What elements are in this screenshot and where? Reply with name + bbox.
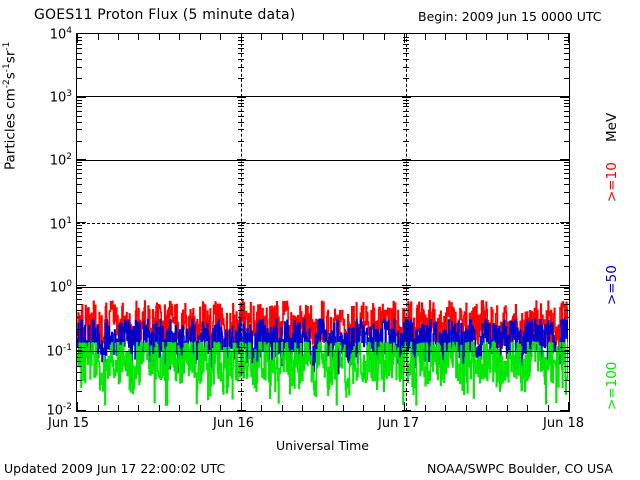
x-tick-label-jun18: Jun 18 [543,416,584,431]
y-tick-label-1e3: 103 [30,89,72,105]
legend-item-ge10: >=10 [604,162,620,202]
gridline-1e1-dashed [77,223,569,224]
legend-item-ge50: >=50 [604,265,620,305]
y-tick-label-1e-1: 10-1 [26,343,72,359]
legend-item-ge100: >=100 [604,362,620,410]
x-axis-title: Universal Time [276,438,369,453]
page-title: GOES11 Proton Flux (5 minute data) [34,7,295,23]
gridline-1e3 [77,96,569,97]
legend-unit-mev: MeV [604,113,620,142]
x-tick-label-jun15: Jun 15 [48,416,89,431]
y-tick-label-1e0: 100 [30,279,72,295]
y-tick-label-1e2: 102 [30,152,72,168]
gridline-1e-1 [77,351,569,352]
footer-source-label: NOAA/SWPC Boulder, CO USA [427,461,613,476]
flux-series-plot [77,34,568,410]
begin-time-label: Begin: 2009 Jun 15 0000 UTC [418,9,602,24]
y-tick-label-1e4: 104 [30,26,72,42]
x-tick-label-jun16: Jun 16 [213,416,254,431]
y-axis-title: Particles cm-2s-1sr-1 [2,42,19,170]
y-tick-label-1e1: 101 [30,216,72,232]
plot-area [76,33,570,412]
footer-updated-timestamp: Updated 2009 Jun 17 22:00:02 UTC [4,461,225,476]
gridline-1e0 [77,287,569,288]
plot-clip [77,34,569,411]
gridline-1e2 [77,160,569,161]
x-tick-label-jun17: Jun 17 [378,416,419,431]
